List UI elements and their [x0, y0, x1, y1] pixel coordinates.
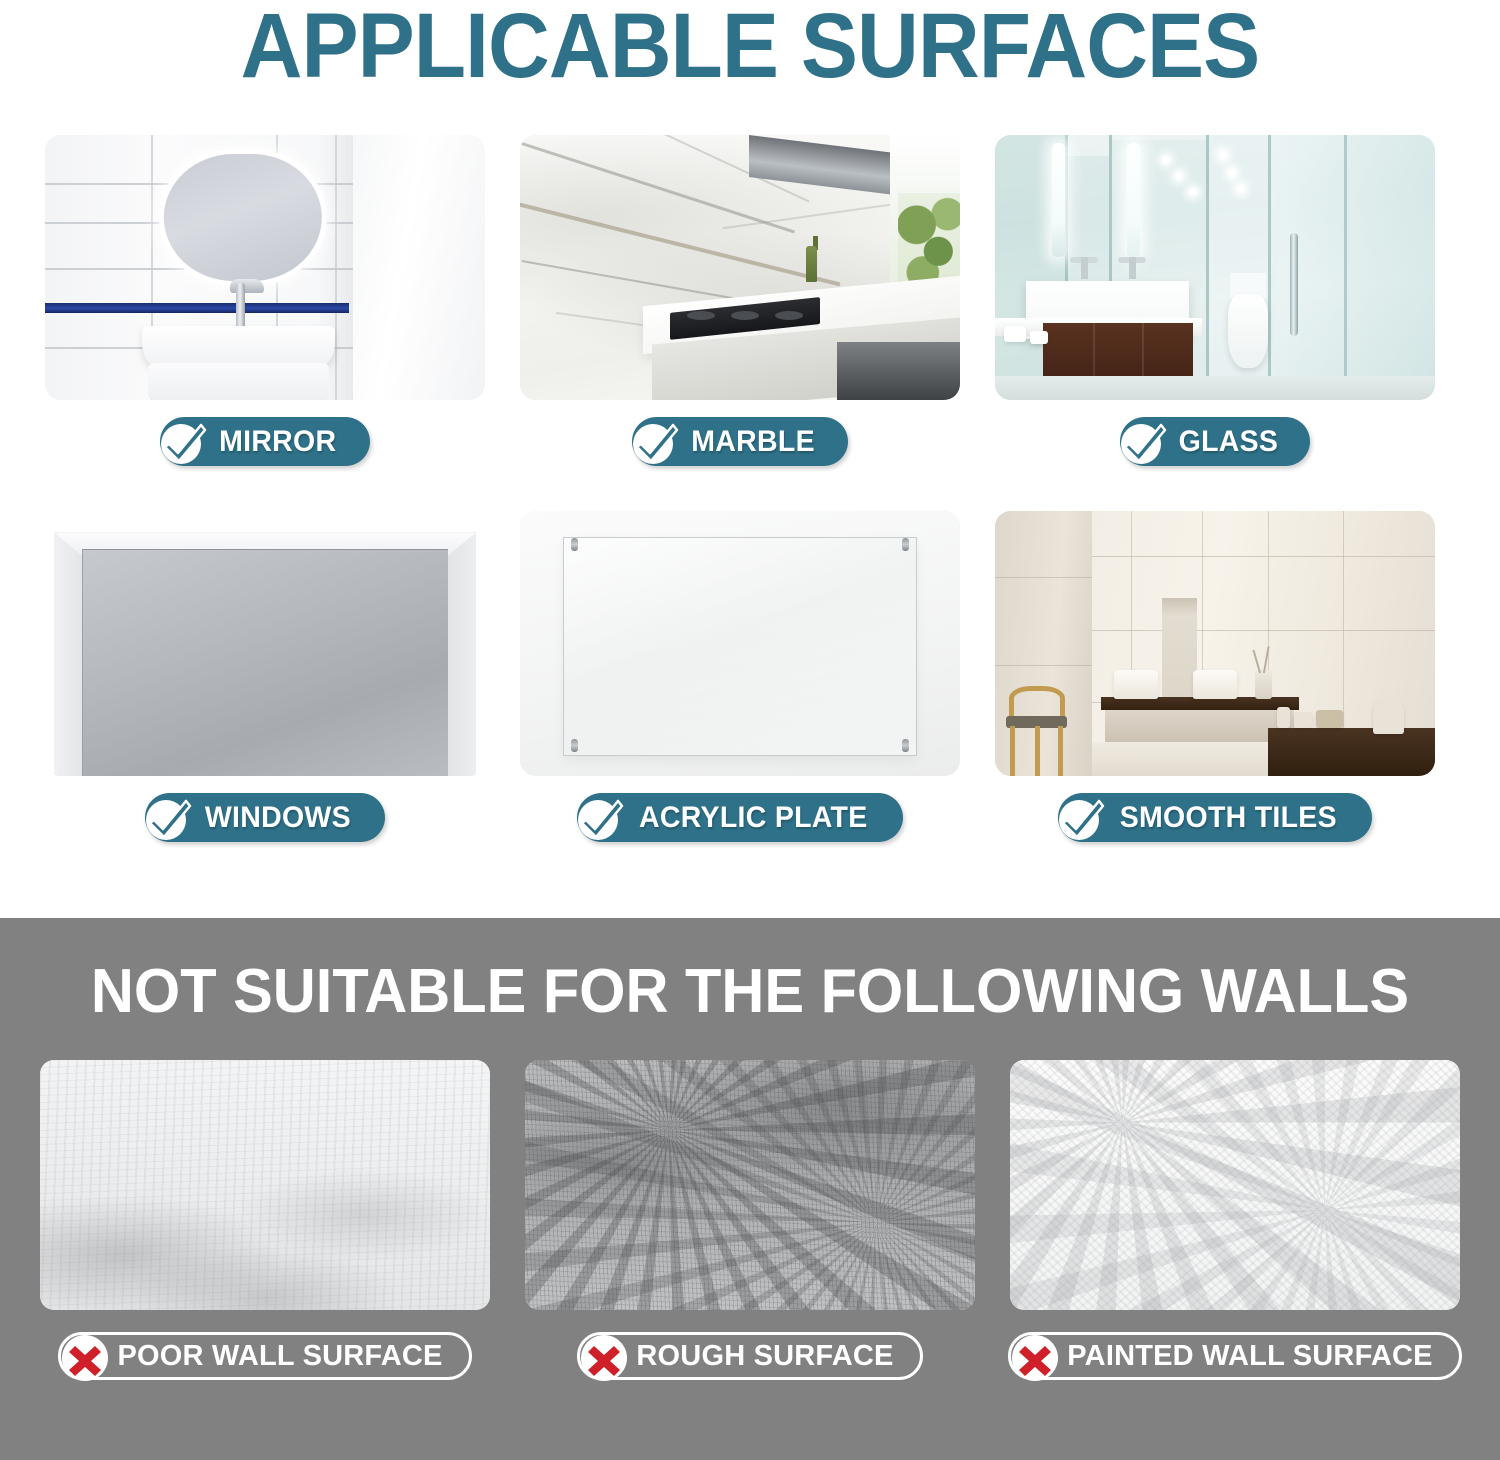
window-pane-photo	[45, 511, 485, 776]
label-pill-painted-wall[interactable]: PAINTED WALL SURFACE	[1008, 1332, 1461, 1380]
check-circle-icon	[1116, 415, 1170, 469]
unsuitable-card-poor-wall: POOR WALL SURFACE	[40, 1060, 490, 1380]
not-suitable-title: NOT SUITABLE FOR THE FOLLOWING WALLS	[30, 956, 1470, 1027]
label-text: POOR WALL SURFACE	[117, 1340, 442, 1373]
label-pill-mirror[interactable]: MIRROR	[160, 417, 369, 466]
x-circle-icon	[577, 1331, 631, 1385]
poor-wall-texture	[40, 1060, 490, 1310]
infographic-root: APPLICABLE SURFACES	[0, 0, 1500, 1460]
label-pill-marble[interactable]: MARBLE	[632, 417, 848, 466]
not-suitable-section: NOT SUITABLE FOR THE FOLLOWING WALLS	[0, 918, 1500, 1460]
check-circle-icon	[141, 791, 195, 845]
check-circle-icon	[156, 415, 210, 469]
applicable-grid: MIRROR	[45, 135, 1435, 842]
label-text: MIRROR	[219, 425, 336, 459]
check-circle-icon	[1054, 791, 1108, 845]
glass-bathroom-photo	[995, 135, 1435, 400]
check-circle-icon	[573, 791, 627, 845]
label-text: SMOOTH TILES	[1119, 801, 1336, 835]
x-circle-icon	[58, 1331, 112, 1385]
check-circle-icon	[628, 415, 682, 469]
label-text: WINDOWS	[205, 801, 351, 835]
label-pill-acrylic[interactable]: ACRYLIC PLATE	[577, 793, 904, 842]
label-text: MARBLE	[691, 425, 815, 459]
label-pill-poor-wall[interactable]: POOR WALL SURFACE	[58, 1332, 471, 1380]
bathroom-mirror-photo	[45, 135, 485, 400]
painted-stipple-texture	[1010, 1060, 1460, 1310]
label-pill-rough-surface[interactable]: ROUGH SURFACE	[577, 1332, 922, 1380]
label-pill-smooth-tiles[interactable]: SMOOTH TILES	[1058, 793, 1373, 842]
marble-kitchen-photo	[520, 135, 960, 400]
label-text: PAINTED WALL SURFACE	[1067, 1340, 1432, 1373]
surface-card-windows: WINDOWS	[45, 511, 485, 842]
label-pill-windows[interactable]: WINDOWS	[145, 793, 385, 842]
rough-concrete-texture	[525, 1060, 975, 1310]
applicable-surfaces-section: APPLICABLE SURFACES	[0, 0, 1500, 918]
smooth-tiles-bathroom-photo	[995, 511, 1435, 776]
acrylic-plate-photo	[520, 511, 960, 776]
surface-card-mirror: MIRROR	[45, 135, 485, 466]
surface-card-marble: MARBLE	[520, 135, 960, 466]
surface-card-acrylic: ACRYLIC PLATE	[520, 511, 960, 842]
surface-card-glass: GLASS	[995, 135, 1435, 466]
label-text: GLASS	[1178, 425, 1278, 459]
not-suitable-grid: POOR WALL SURFACE	[40, 1060, 1460, 1380]
chair	[1004, 686, 1070, 776]
unsuitable-card-rough-surface: ROUGH SURFACE	[525, 1060, 975, 1380]
label-text: ACRYLIC PLATE	[639, 801, 868, 835]
label-text: ROUGH SURFACE	[636, 1340, 893, 1373]
page-title: APPLICABLE SURFACES	[53, 0, 1448, 100]
x-circle-icon	[1008, 1331, 1062, 1385]
label-pill-glass[interactable]: GLASS	[1120, 417, 1311, 466]
surface-card-smooth-tiles: SMOOTH TILES	[995, 511, 1435, 842]
unsuitable-card-painted-wall: PAINTED WALL SURFACE	[1010, 1060, 1460, 1380]
